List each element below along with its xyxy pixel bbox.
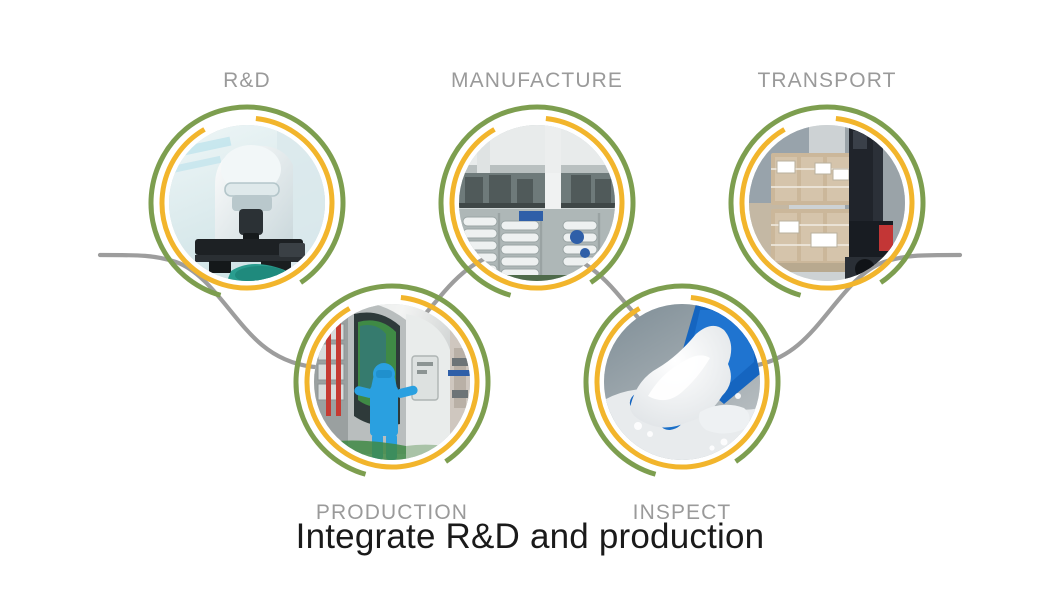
factory-plant-photo <box>459 125 615 281</box>
microscope-photo <box>169 125 325 281</box>
step-label-production: PRODUCTION <box>232 502 552 523</box>
infographic-canvas: Integrate R&D and production R&DMANUFACT… <box>0 0 1060 596</box>
forklift-pallet-photo <box>749 125 905 281</box>
page-title: Integrate R&D and production <box>0 518 1060 557</box>
process-step-transport[interactable] <box>727 103 927 303</box>
step-label-transport: TRANSPORT <box>667 70 987 91</box>
process-step-inspect[interactable] <box>582 282 782 482</box>
step-label-rd: R&D <box>87 70 407 91</box>
step-label-manufacture: MANUFACTURE <box>377 70 697 91</box>
white-powder-scoop-photo <box>604 304 760 460</box>
step-label-inspect: INSPECT <box>522 502 842 523</box>
cleanroom-worker-photo <box>314 304 470 460</box>
process-step-rd[interactable] <box>147 103 347 303</box>
process-step-manufacture[interactable] <box>437 103 637 303</box>
process-step-production[interactable] <box>292 282 492 482</box>
